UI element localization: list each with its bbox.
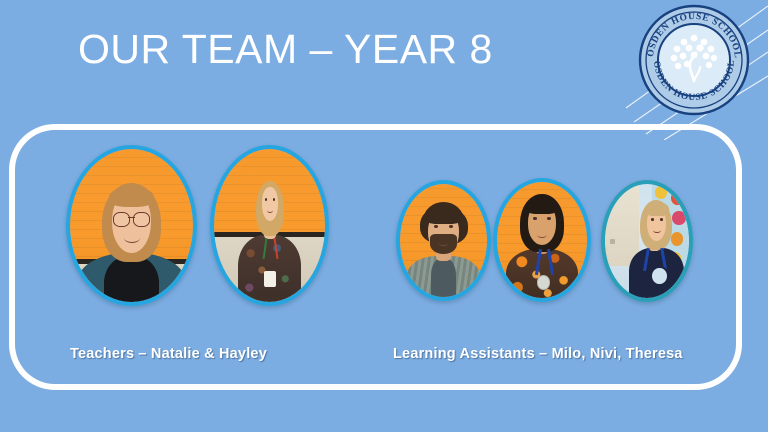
photo-natalie[interactable] (66, 145, 197, 306)
id-badge (264, 271, 276, 286)
person-body (506, 249, 578, 298)
caption-learning-assistants: Learning Assistants – Milo, Nivi, Theres… (393, 346, 683, 362)
photo-milo[interactable] (396, 180, 491, 301)
caption-teachers: Teachers – Natalie & Hayley (70, 346, 267, 362)
slide-title: OUR TEAM – YEAR 8 (78, 26, 493, 73)
photo-nivi[interactable] (493, 178, 591, 302)
person-shirt (104, 256, 158, 302)
photo-theresa[interactable] (601, 180, 693, 302)
person-body (238, 235, 300, 302)
id-badge (537, 275, 551, 290)
photo-hayley[interactable] (210, 145, 329, 306)
gosden-house-school-logo: GOSDEN HOUSE SCHOOL · GOSDEN HOUSE SCHOO… (637, 3, 751, 117)
glasses-icon (112, 212, 151, 226)
person-shirt (431, 259, 455, 297)
id-badge (650, 266, 668, 286)
slide-canvas: GOSDEN HOUSE SCHOOL · GOSDEN HOUSE SCHOO… (0, 0, 768, 432)
